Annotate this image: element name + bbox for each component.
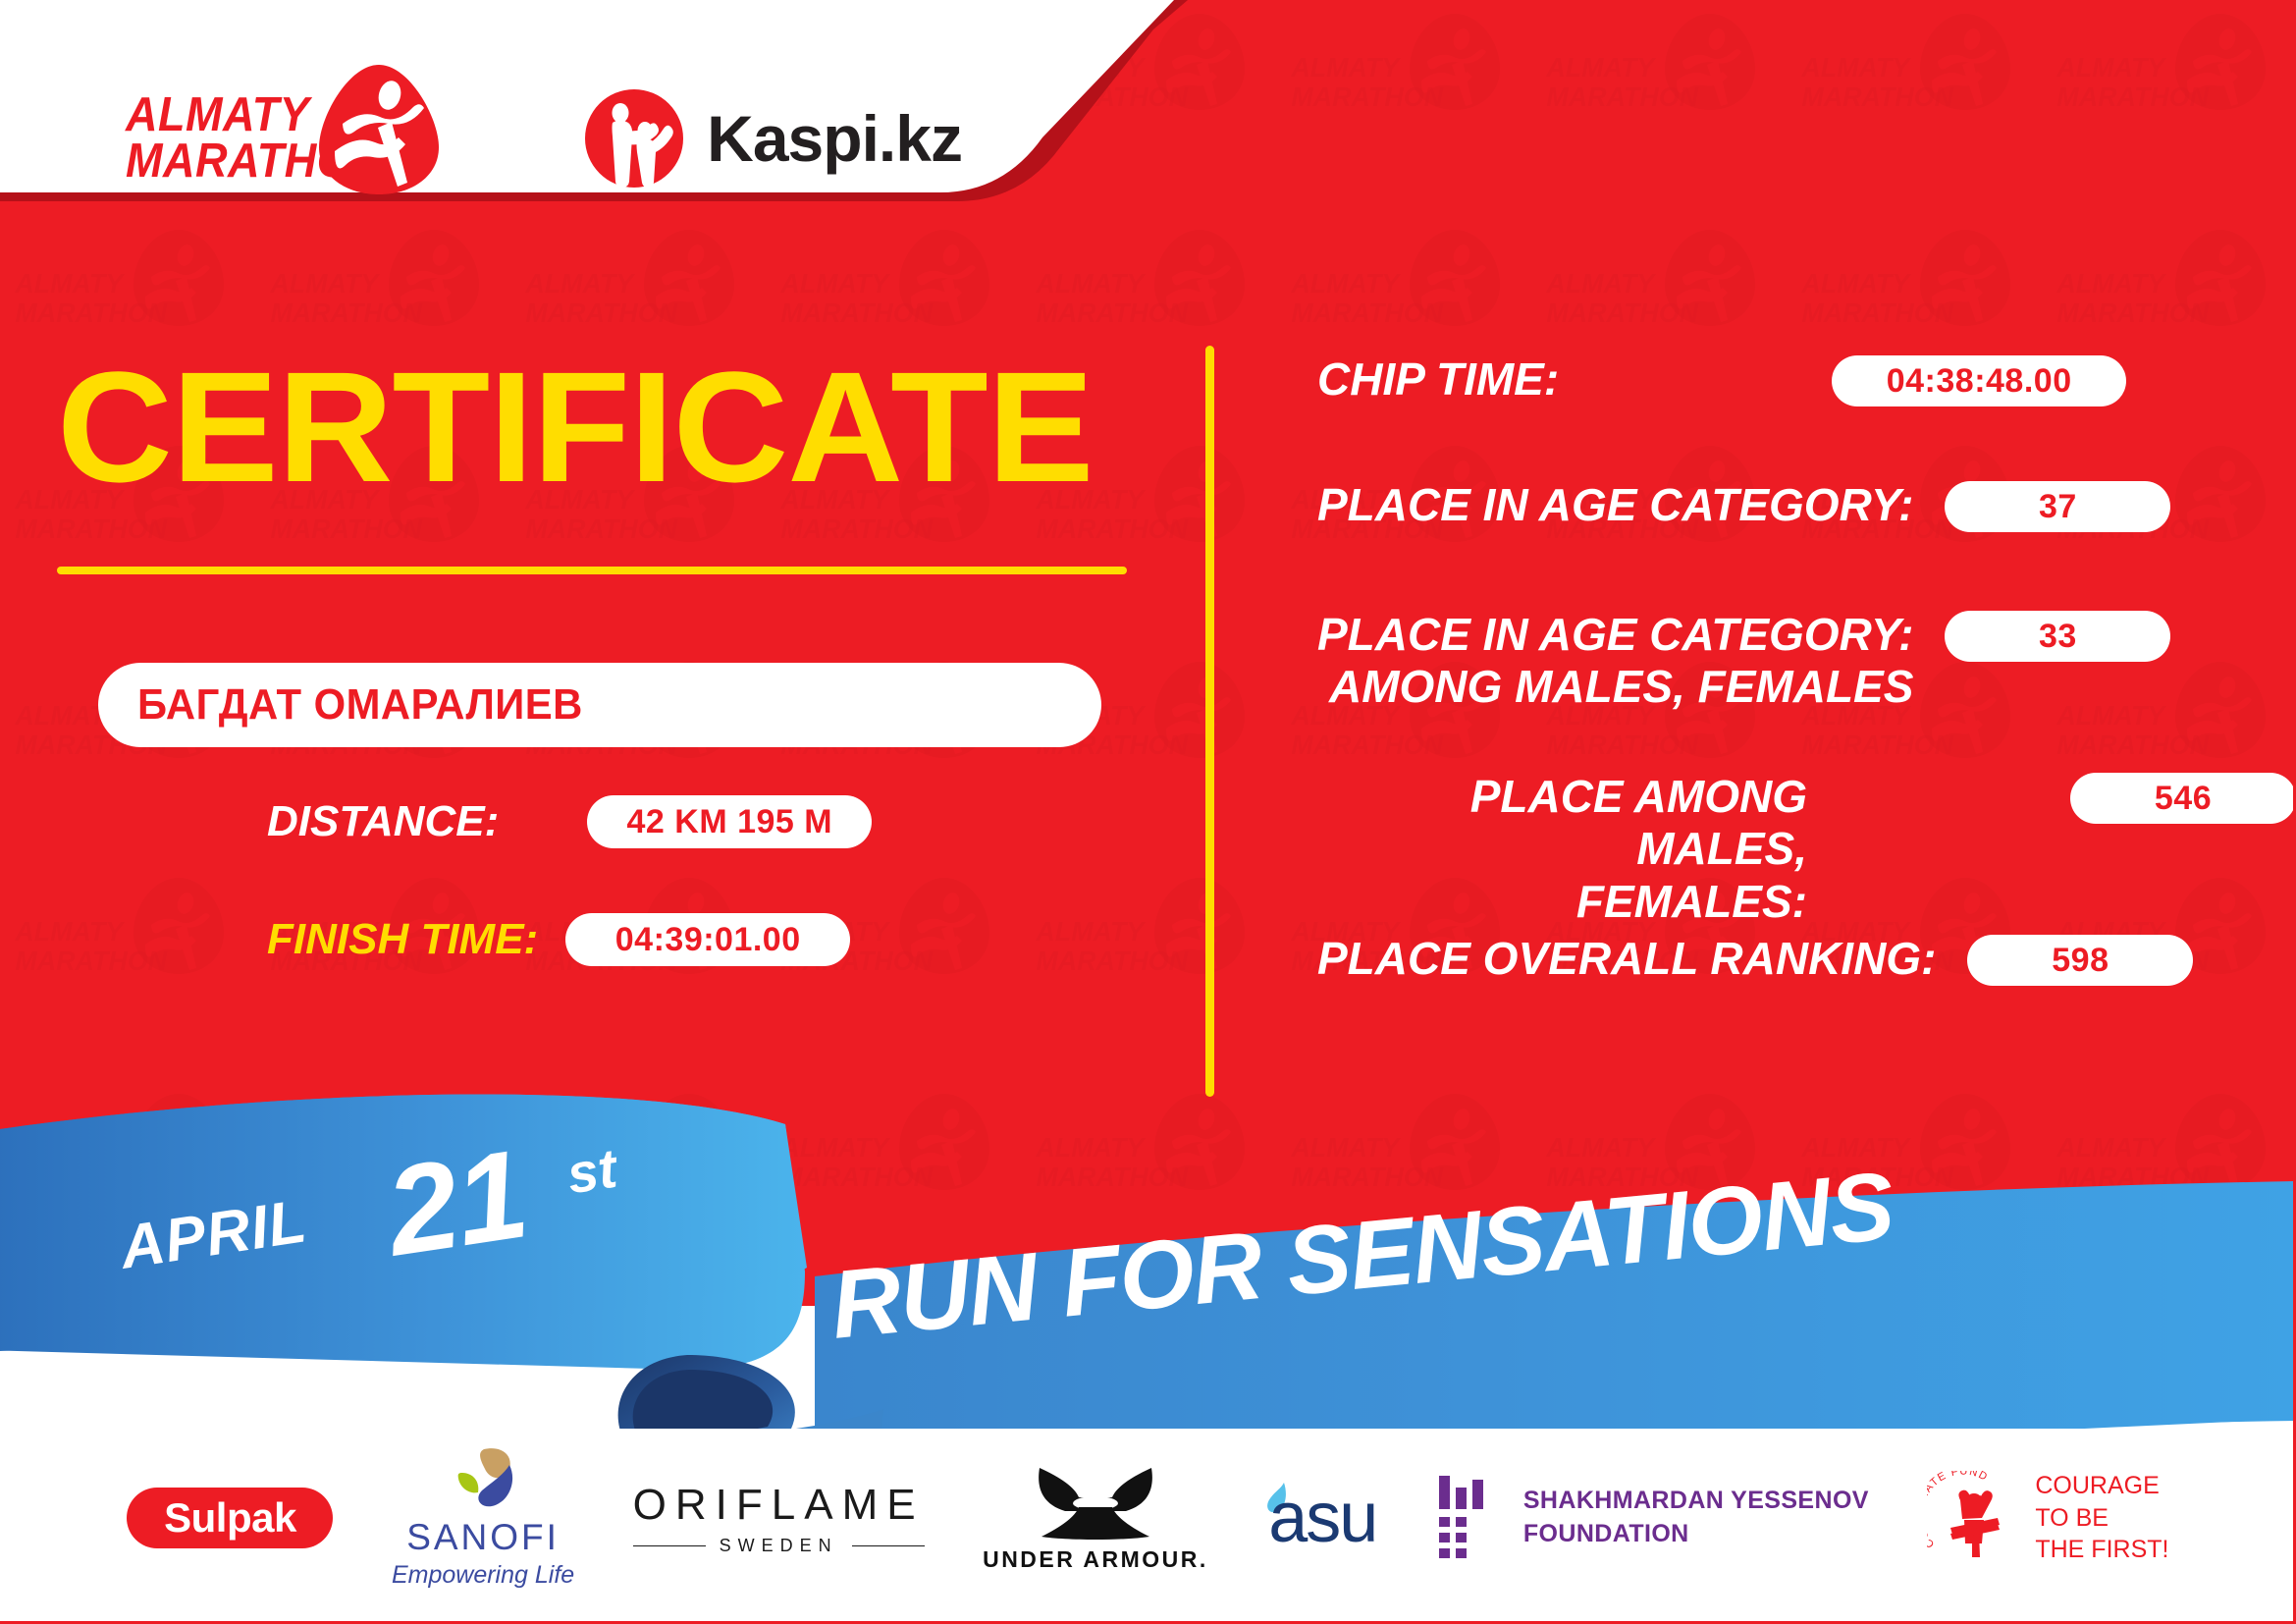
oriflame-country: SWEDEN [720,1536,838,1556]
sulpak-logo: Sulpak [127,1488,333,1548]
result-row-place-overall: PLACE OVERALL RANKING: 598 [1317,933,2193,986]
sulpak-wordmark: Sulpak [164,1494,296,1542]
oriflame-rule-left [633,1545,706,1546]
sanofi-wordmark: SANOFI [406,1517,560,1558]
place-age-gender-value: 33 [2039,618,2077,656]
header-logo-bar: ALMATY MARATHON [0,0,1129,277]
place-gender-value-pill: 546 [2070,773,2296,824]
sponsor-oriflame: ORIFLAME SWEDEN [633,1481,925,1556]
oriflame-rule-right [852,1545,925,1546]
under-armour-wordmark: UNDER ARMOUR. [983,1546,1208,1573]
place-gender-value: 546 [2155,780,2212,818]
result-row-place-age-category: PLACE IN AGE CATEGORY: 37 [1317,479,2170,532]
kaspi-wordmark: Kaspi.kz [707,101,962,176]
result-row-chip-time: CHIP TIME: 04:38:48.00 [1317,353,2126,406]
sanofi-mark-icon [445,1447,521,1514]
sponsor-logo-strip: Sulpak SANOFI Empowering Life ORIFLAME S… [0,1412,2296,1624]
courage-runner-icon: CORPORATE FUND [1927,1471,2021,1565]
results-column: CHIP TIME: 04:38:48.00 PLACE IN AGE CATE… [1276,353,2296,1100]
place-gender-label: PLACE AMONG MALES, FEMALES: [1317,771,1807,928]
ribbon-day-number: 21 [378,1121,536,1284]
place-age-category-value-pill: 37 [1945,481,2170,532]
sponsor-courage-to-be-the-first: CORPORATE FUND COURAGE TO BE THE FIRST! [1927,1470,2168,1566]
oriflame-sub: SWEDEN [633,1536,925,1556]
place-age-gender-value-pill: 33 [1945,611,2170,662]
place-overall-value: 598 [2052,942,2109,980]
almaty-marathon-logo: ALMATY MARATHON [126,92,406,185]
kaspi-people-circle-icon [583,87,685,189]
chip-time-value-pill: 04:38:48.00 [1832,355,2126,406]
yessenov-wordmark: SHAKHMARDAN YESSENOV FOUNDATION [1523,1485,1869,1551]
left-column: CERTIFICATE БАГДАТ ОМАРАЛИЕВ [0,295,1198,1139]
certificate-canvas: ALMATY MARATHON ALMATY MARATHON [0,0,2296,1624]
sanofi-tagline: Empowering Life [392,1561,574,1590]
courage-wordmark: COURAGE TO BE THE FIRST! [2035,1470,2168,1566]
kaspi-logo: Kaspi.kz [583,87,962,189]
result-row-place-age-gender: PLACE IN AGE CATEGORY: AMONG MALES, FEMA… [1317,609,2170,714]
chip-time-label: CHIP TIME: [1317,353,1559,406]
athlete-name-value: БАГДАТ ОМАРАЛИЕВ [137,680,583,730]
athlete-name-field: БАГДАТ ОМАРАЛИЕВ [98,663,1101,747]
vertical-divider [1205,346,1214,1097]
title-underline-rule [57,567,1127,574]
oriflame-wordmark: ORIFLAME [633,1481,925,1530]
runner-drop-icon [315,61,443,198]
under-armour-icon [1032,1464,1159,1541]
page-title: CERTIFICATE [57,349,1094,506]
ribbon-day-suffix: st [562,1136,620,1207]
place-overall-value-pill: 598 [1967,935,2193,986]
sponsor-sanofi: SANOFI Empowering Life [392,1447,574,1590]
chip-time-value: 04:38:48.00 [1887,362,2072,401]
place-age-gender-label: PLACE IN AGE CATEGORY: AMONG MALES, FEMA… [1317,609,1913,714]
place-age-category-label: PLACE IN AGE CATEGORY: [1317,479,1913,531]
yessenov-bars-icon [1435,1474,1502,1562]
sponsor-under-armour: UNDER ARMOUR. [983,1464,1208,1573]
asu-wordmark: asu [1268,1478,1376,1558]
sponsor-sulpak: Sulpak [127,1488,333,1548]
result-row-place-gender: PLACE AMONG MALES, FEMALES: 546 [1317,771,2296,928]
sponsor-yessenov-foundation: SHAKHMARDAN YESSENOV FOUNDATION [1435,1474,1869,1562]
place-age-category-value: 37 [2039,488,2077,526]
place-overall-label: PLACE OVERALL RANKING: [1317,933,1936,985]
sponsor-asu: asu [1266,1478,1376,1558]
